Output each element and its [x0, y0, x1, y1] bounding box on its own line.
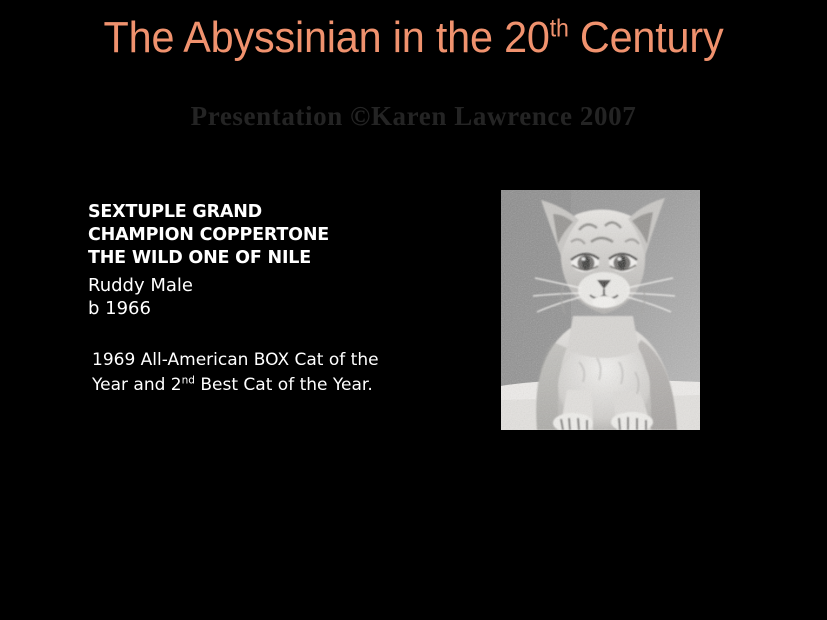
- cat-title-line-1: SEXTUPLE GRAND: [88, 201, 418, 224]
- cat-photograph: [501, 190, 700, 430]
- cat-details: Ruddy Male b 1966: [88, 274, 418, 320]
- page-title-superscript: th: [550, 15, 569, 42]
- cat-award-paragraph: 1969 All-American BOX Cat of the Year an…: [92, 348, 412, 398]
- page-title-text: The Abyssinian in the 20: [104, 13, 550, 62]
- presentation-credit: Presentation ©Karen Lawrence 2007: [0, 100, 827, 132]
- cat-color-sex: Ruddy Male: [88, 274, 418, 297]
- page-title-text-tail: Century: [569, 13, 724, 62]
- page-title: The Abyssinian in the 20th Century: [25, 12, 802, 64]
- cat-title-line-2: CHAMPION COPPERTONE: [88, 224, 418, 247]
- cat-title-line-3: THE WILD ONE OF NILE: [88, 247, 418, 270]
- slide-canvas: The Abyssinian in the 20th Century Prese…: [0, 0, 827, 620]
- cat-photograph-image: [501, 190, 700, 430]
- award-text-superscript: nd: [182, 374, 195, 386]
- cat-birth-year: b 1966: [88, 297, 418, 320]
- cat-info-block: SEXTUPLE GRAND CHAMPION COPPERTONE THE W…: [88, 201, 418, 398]
- award-text-tail: Best Cat of the Year.: [195, 375, 373, 395]
